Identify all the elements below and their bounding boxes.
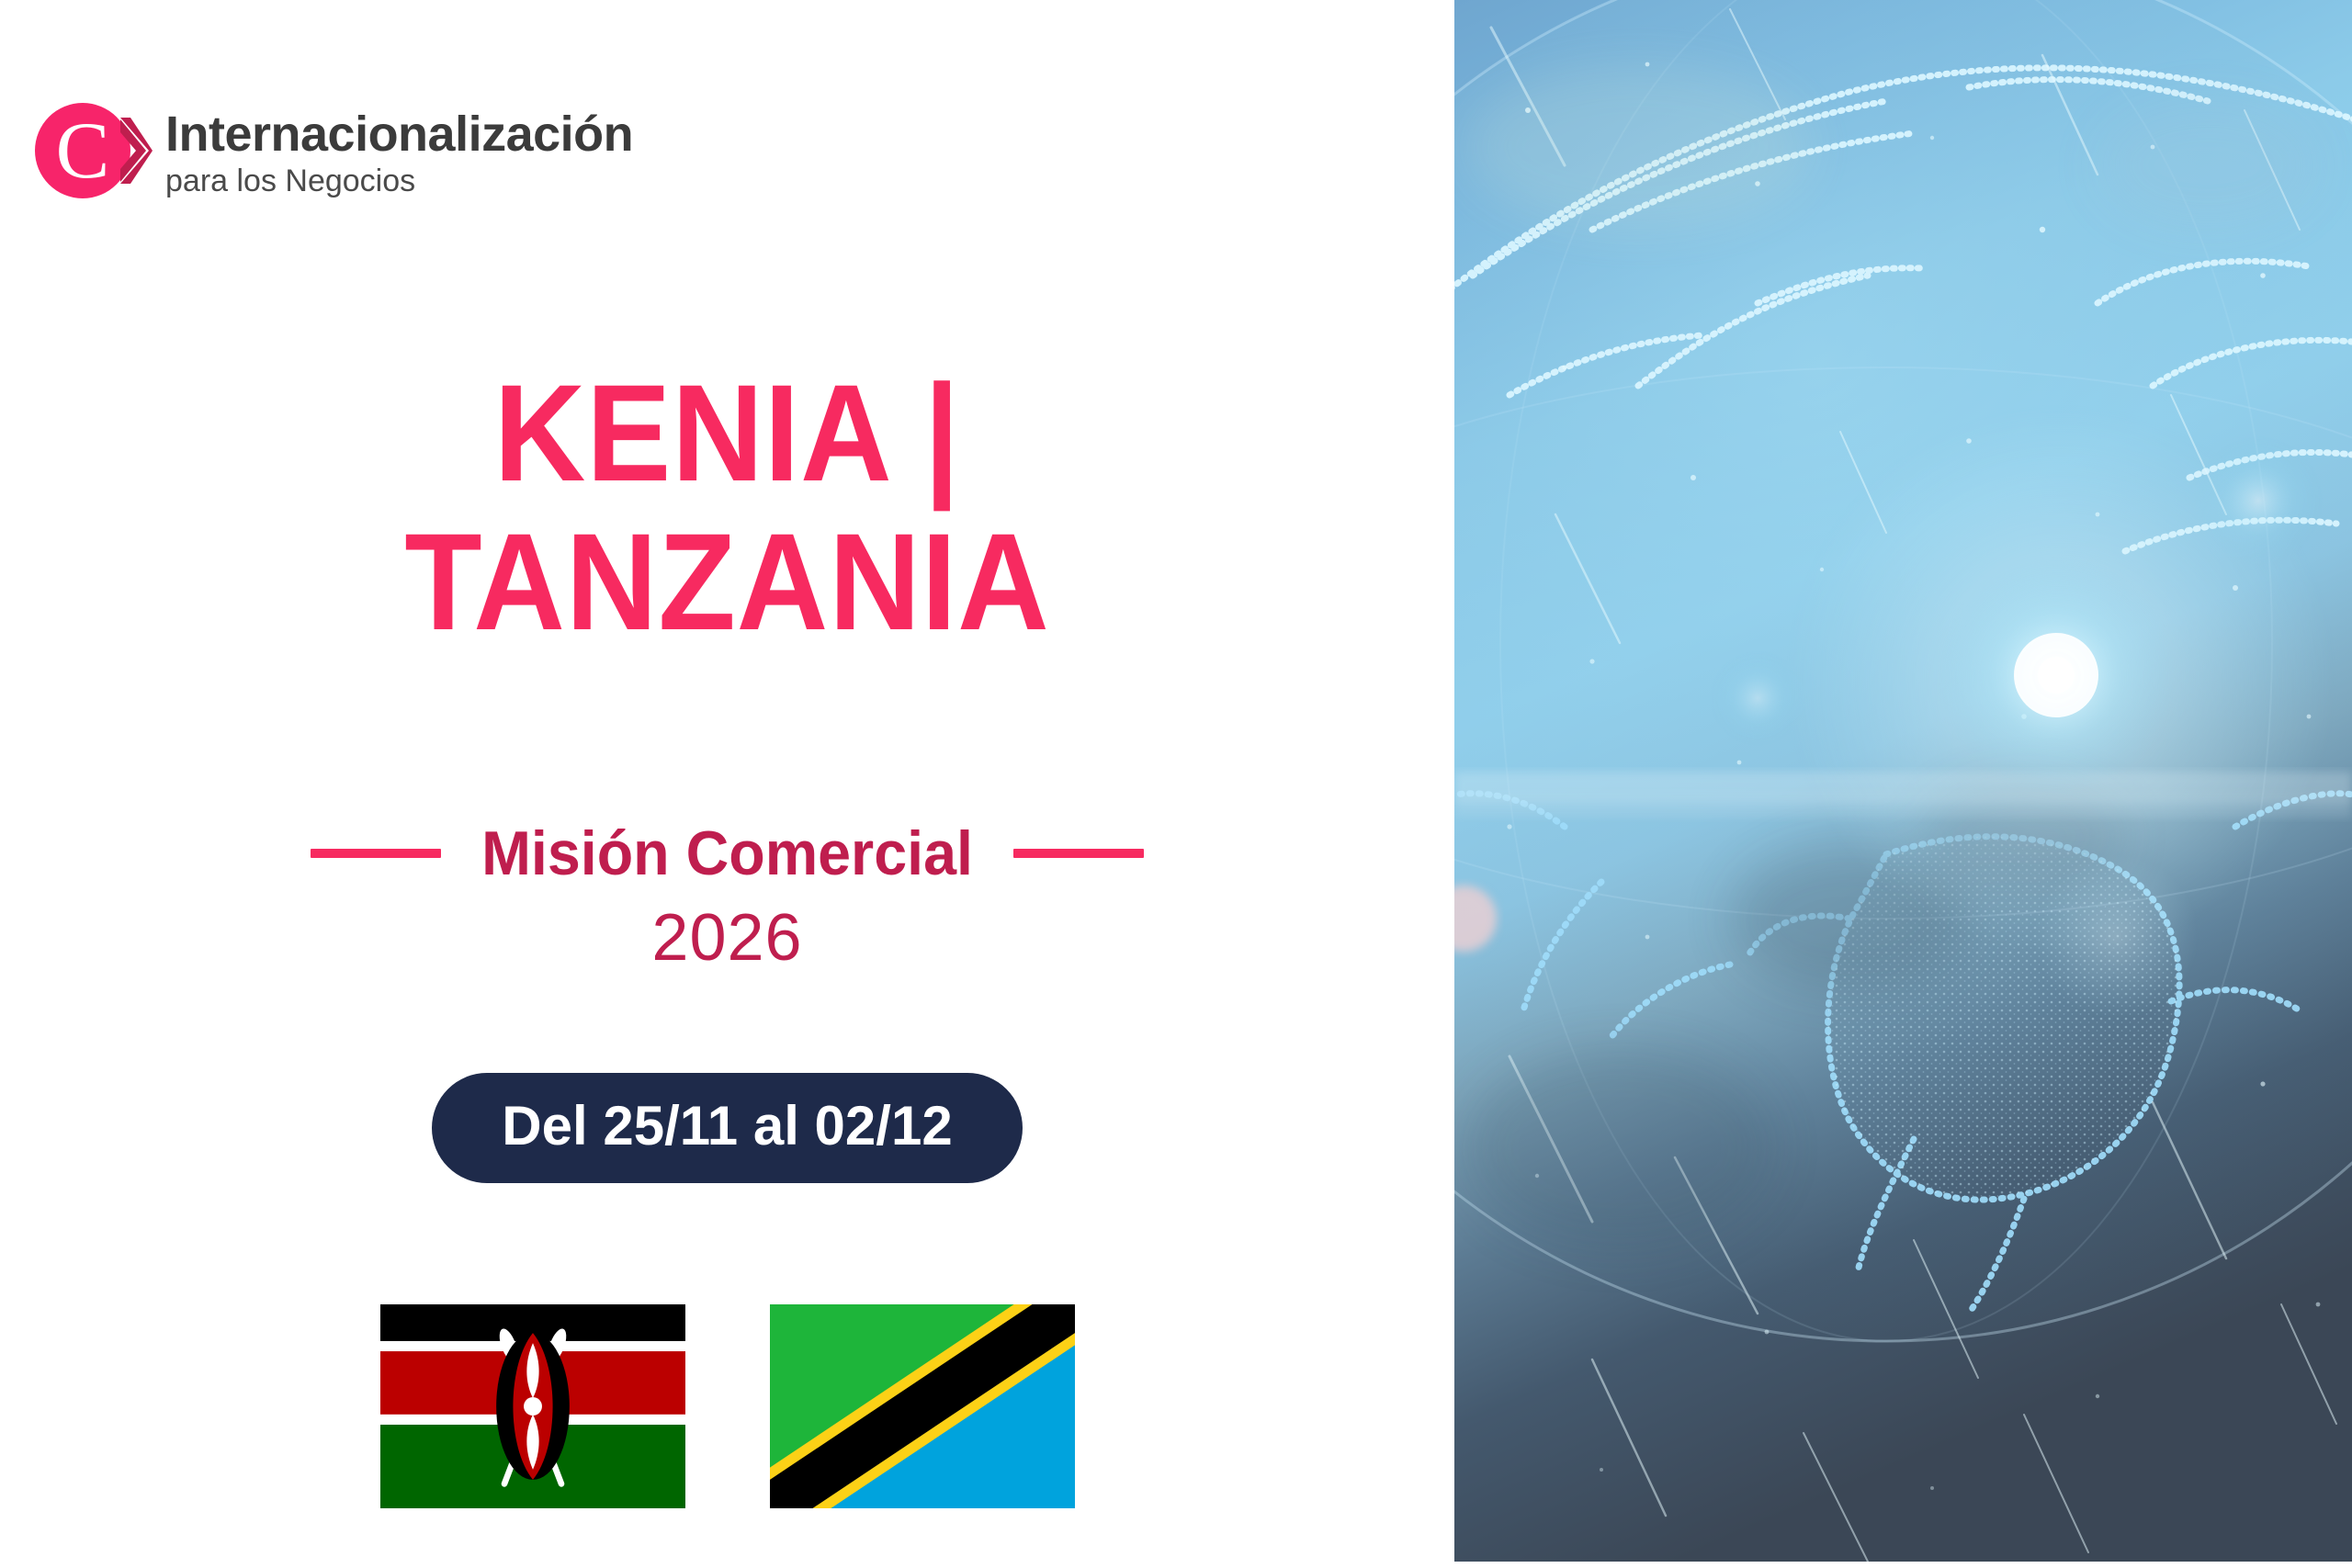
- tanzania-flag: [770, 1304, 1075, 1508]
- mission-label-row: Misión Comercial: [0, 818, 1454, 889]
- mission-year: 2026: [0, 900, 1454, 976]
- brand-title: Internacionalización: [165, 108, 633, 161]
- brand-subtitle: para los Negocios: [165, 165, 633, 197]
- country-flags-row: [0, 1304, 1454, 1508]
- brand-logo-lockup[interactable]: C Internacionalización para los Negocios: [35, 92, 633, 209]
- digital-globe-network-image: [1454, 0, 2352, 1562]
- rule-left: [311, 849, 441, 858]
- headline-line-1: KENIA |: [58, 358, 1396, 507]
- rule-right: [1013, 849, 1144, 858]
- brand-text-block: Internacionalización para los Negocios: [165, 105, 633, 197]
- status-badge[interactable]: Del 25/11 al 02/12: [432, 1073, 1022, 1183]
- poster-canvas: C Internacionalización para los Negocios…: [0, 0, 2352, 1568]
- left-content-column: C Internacionalización para los Negocios…: [0, 0, 1454, 1568]
- date-badge-wrapper: Del 25/11 al 02/12: [0, 1073, 1454, 1183]
- mission-label: Misión Comercial: [481, 818, 973, 889]
- kenya-flag: [380, 1304, 685, 1508]
- headline-line-2: TANZANIA: [58, 507, 1396, 656]
- page-title: KENIA | TANZANIA: [0, 358, 1454, 656]
- c-circle-chevron-logo-icon: C: [35, 92, 153, 209]
- svg-text:C: C: [56, 107, 110, 196]
